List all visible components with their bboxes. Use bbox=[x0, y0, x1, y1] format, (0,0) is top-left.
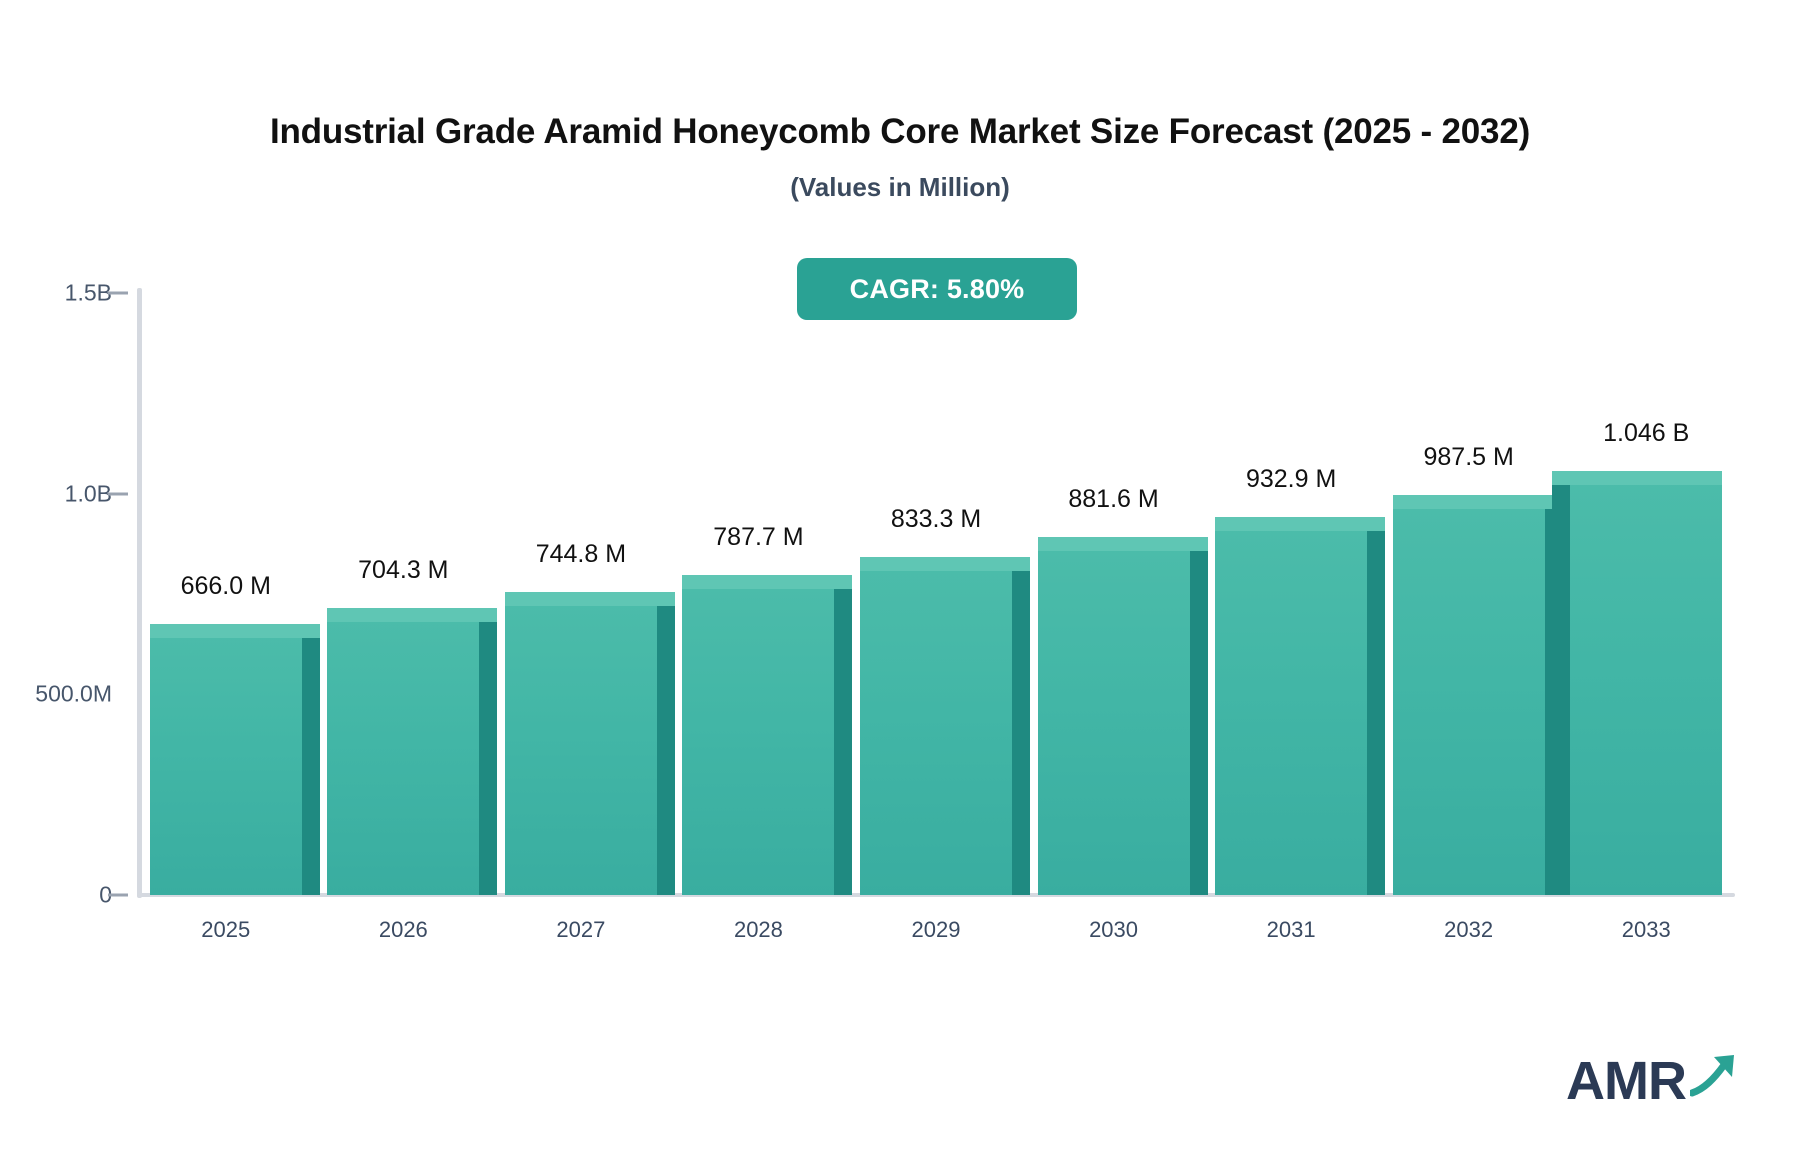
bar-right-face bbox=[657, 606, 675, 895]
bar-front-face bbox=[860, 561, 1012, 895]
bar-value-label: 744.8 M bbox=[536, 540, 626, 569]
x-axis-tick-label: 2027 bbox=[556, 917, 605, 943]
y-axis-tick-mark bbox=[108, 894, 128, 897]
bar bbox=[327, 612, 479, 895]
amr-logo-text: AMR bbox=[1566, 1054, 1686, 1108]
y-axis-tick-label: 1.5B bbox=[65, 280, 112, 307]
bar-value-label: 932.9 M bbox=[1246, 465, 1336, 494]
bar-value-label: 987.5 M bbox=[1423, 443, 1513, 472]
bar-front-face bbox=[150, 628, 302, 895]
x-axis-tick-label: 2028 bbox=[734, 917, 783, 943]
bar bbox=[1393, 499, 1545, 895]
bar-right-face bbox=[1012, 571, 1030, 895]
bar-top-face bbox=[1552, 471, 1722, 485]
bar-front-face bbox=[327, 612, 479, 895]
bar-value-label: 833.3 M bbox=[891, 505, 981, 534]
bar-top-face bbox=[505, 592, 675, 606]
bar-top-face bbox=[1038, 537, 1208, 551]
bar-value-label: 666.0 M bbox=[181, 572, 271, 601]
bar-right-face bbox=[834, 589, 852, 895]
y-axis-tick-mark bbox=[108, 492, 128, 495]
x-axis-tick-label: 2031 bbox=[1267, 917, 1316, 943]
chart-canvas: Industrial Grade Aramid Honeycomb Core M… bbox=[0, 0, 1800, 1156]
bar-right-face bbox=[1190, 551, 1208, 895]
y-axis-tick-mark bbox=[108, 292, 128, 295]
bar-front-face bbox=[1038, 541, 1190, 895]
bar-value-label: 787.7 M bbox=[713, 523, 803, 552]
bar-front-face bbox=[682, 579, 834, 895]
y-axis-tick-label: 1.0B bbox=[65, 480, 112, 507]
bar bbox=[860, 561, 1012, 895]
plot-area: 0500.0M1.0B1.5B 666.0 M704.3 M744.8 M787… bbox=[0, 0, 1800, 1156]
bar-top-face bbox=[150, 624, 320, 638]
x-axis-tick-label: 2032 bbox=[1444, 917, 1493, 943]
bar-value-label: 1.046 B bbox=[1603, 419, 1689, 448]
bar-top-face bbox=[1393, 495, 1563, 509]
trend-up-arrow-icon bbox=[1690, 1053, 1744, 1102]
bar-value-label: 704.3 M bbox=[358, 556, 448, 585]
bar bbox=[150, 628, 302, 895]
bar-front-face bbox=[1215, 521, 1367, 895]
bar-right-face bbox=[1367, 531, 1385, 895]
bar bbox=[505, 596, 657, 895]
bar-left-face bbox=[1552, 485, 1570, 895]
bar-front-face bbox=[1570, 475, 1722, 895]
bar-top-face bbox=[327, 608, 497, 622]
y-axis-tick-label: 500.0M bbox=[35, 681, 112, 708]
bar bbox=[1215, 521, 1367, 895]
x-axis-tick-label: 2025 bbox=[201, 917, 250, 943]
x-axis-tick-label: 2030 bbox=[1089, 917, 1138, 943]
bar-top-face bbox=[1215, 517, 1385, 531]
bar-front-face bbox=[1393, 499, 1545, 895]
bar-right-face bbox=[302, 638, 320, 895]
bar-value-label: 881.6 M bbox=[1068, 485, 1158, 514]
amr-logo: AMR bbox=[1566, 1053, 1744, 1108]
bar bbox=[1038, 541, 1190, 895]
x-axis-tick-label: 2026 bbox=[379, 917, 428, 943]
y-axis-line bbox=[137, 288, 142, 898]
x-axis-tick-label: 2029 bbox=[912, 917, 961, 943]
bar-front-face bbox=[505, 596, 657, 895]
bar bbox=[682, 579, 834, 895]
bar bbox=[1570, 475, 1722, 895]
bar-right-face bbox=[479, 622, 497, 895]
bar-top-face bbox=[860, 557, 1030, 571]
bar-top-face bbox=[682, 575, 852, 589]
x-axis-tick-label: 2033 bbox=[1622, 917, 1671, 943]
